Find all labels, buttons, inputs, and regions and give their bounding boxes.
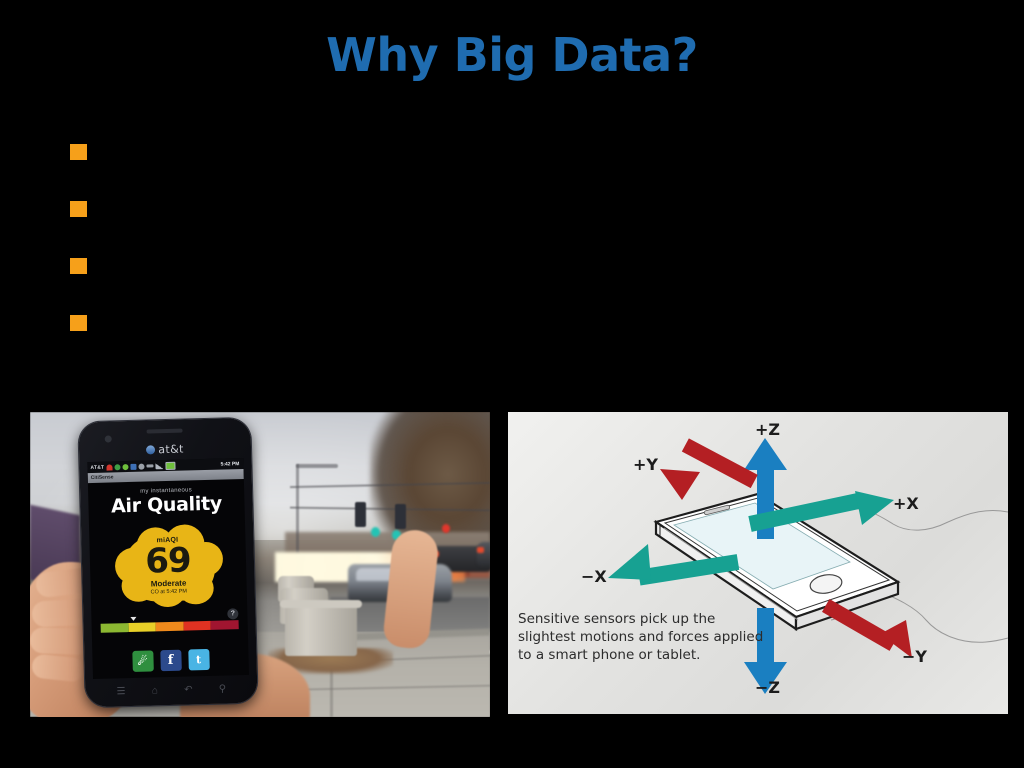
traffic-light: [355, 502, 366, 527]
bullet-square-icon: [70, 201, 87, 217]
message-icon: [114, 464, 120, 470]
aqi-segment-unhealthy: [183, 621, 211, 631]
missed-call-icon: [106, 464, 112, 470]
sync-icon: [122, 464, 128, 470]
axis-label-minus-y: −Y: [902, 647, 927, 666]
carrier-brand-label: at&t: [158, 443, 184, 457]
phone-screen: AT&T 5:42 PM CitiSense my instantaneo: [87, 458, 249, 679]
bluetooth-icon: [130, 463, 136, 469]
carrier-brand-logo: at&t: [79, 441, 251, 458]
street-lamp-arm: [296, 464, 338, 468]
status-carrier-label: AT&T: [90, 464, 104, 470]
aqi-scale-marker-icon: [131, 617, 137, 621]
aqi-scale-segments: [101, 620, 239, 633]
share-icon[interactable]: ☄: [132, 650, 154, 672]
smartphone-device: at&t AT&T 5:42 PM Cit: [78, 418, 257, 707]
list-item: [70, 195, 950, 252]
axis-label-plus-x: +X: [893, 494, 919, 513]
facebook-icon[interactable]: f: [160, 650, 182, 672]
battery-icon: [165, 461, 175, 469]
axis-arrow-plus-y: [660, 438, 758, 500]
status-time: 5:42 PM: [220, 461, 240, 468]
aqi-segment-moderate: [128, 622, 156, 632]
front-camera-icon: [105, 435, 112, 442]
page-title: Why Big Data?: [0, 30, 1024, 81]
menu-icon[interactable]: ☰: [116, 686, 125, 697]
diagram-caption: Sensitive sensors pick up the slightest …: [518, 610, 768, 664]
social-share-row: ☄ f t: [92, 648, 248, 673]
car-taillight: [477, 547, 484, 553]
aqi-metric-value: 69: [109, 542, 228, 579]
twitter-icon[interactable]: t: [188, 649, 210, 671]
aqi-cloud-badge: miAQI 69 Moderate CO at 5:42 PM: [108, 521, 228, 612]
traffic-light: [395, 504, 406, 529]
home-icon[interactable]: ⌂: [152, 685, 158, 696]
app-title: Air Quality: [88, 492, 245, 518]
traffic-light-green: [371, 527, 380, 537]
silent-icon: [146, 464, 153, 467]
bullet-list: [70, 138, 950, 366]
signal-icon: [155, 463, 163, 469]
axis-label-plus-z: +Z: [755, 420, 780, 439]
list-item: [70, 138, 950, 195]
finger: [30, 627, 90, 655]
earpiece-speaker: [147, 429, 183, 434]
aqi-segment-good: [101, 623, 129, 633]
aqi-readout: miAQI 69 Moderate CO at 5:42 PM: [108, 535, 227, 596]
diagram-phone-axes: +Z −Z +X −X +Y −Y Sensitive sensors pick…: [508, 412, 1008, 714]
aqi-segment-unhealthy-sensitive: [156, 622, 184, 632]
bullet-square-icon: [70, 144, 87, 160]
axis-label-minus-z: −Z: [755, 678, 780, 697]
photo-air-quality-phone: at&t AT&T 5:42 PM Cit: [30, 412, 490, 717]
notification-app-label: CitiSense: [91, 474, 114, 481]
axes-illustration: [508, 412, 1008, 714]
list-item: [70, 309, 950, 366]
axis-label-plus-y: +Y: [633, 455, 658, 474]
bullet-square-icon: [70, 315, 87, 331]
axis-arrow-minus-y: [822, 599, 912, 658]
aqi-segment-very-unhealthy: [211, 620, 239, 630]
gps-icon: [138, 463, 144, 469]
traffic-light-red: [442, 524, 450, 533]
bullet-square-icon: [70, 258, 87, 274]
back-icon[interactable]: ↶: [184, 684, 193, 695]
slide-root: Why Big Data?: [0, 0, 1024, 768]
axis-label-minus-x: −X: [581, 567, 607, 586]
search-icon[interactable]: ⚲: [219, 683, 227, 694]
list-item: [70, 252, 950, 309]
concrete-planter-rim: [280, 600, 362, 608]
aqi-color-scale: [101, 617, 239, 635]
att-globe-icon: [146, 445, 155, 454]
car: [477, 542, 490, 566]
concrete-planter: [285, 602, 357, 656]
phone-hardware-nav: ☰ ⌂ ↶ ⚲: [85, 677, 258, 703]
